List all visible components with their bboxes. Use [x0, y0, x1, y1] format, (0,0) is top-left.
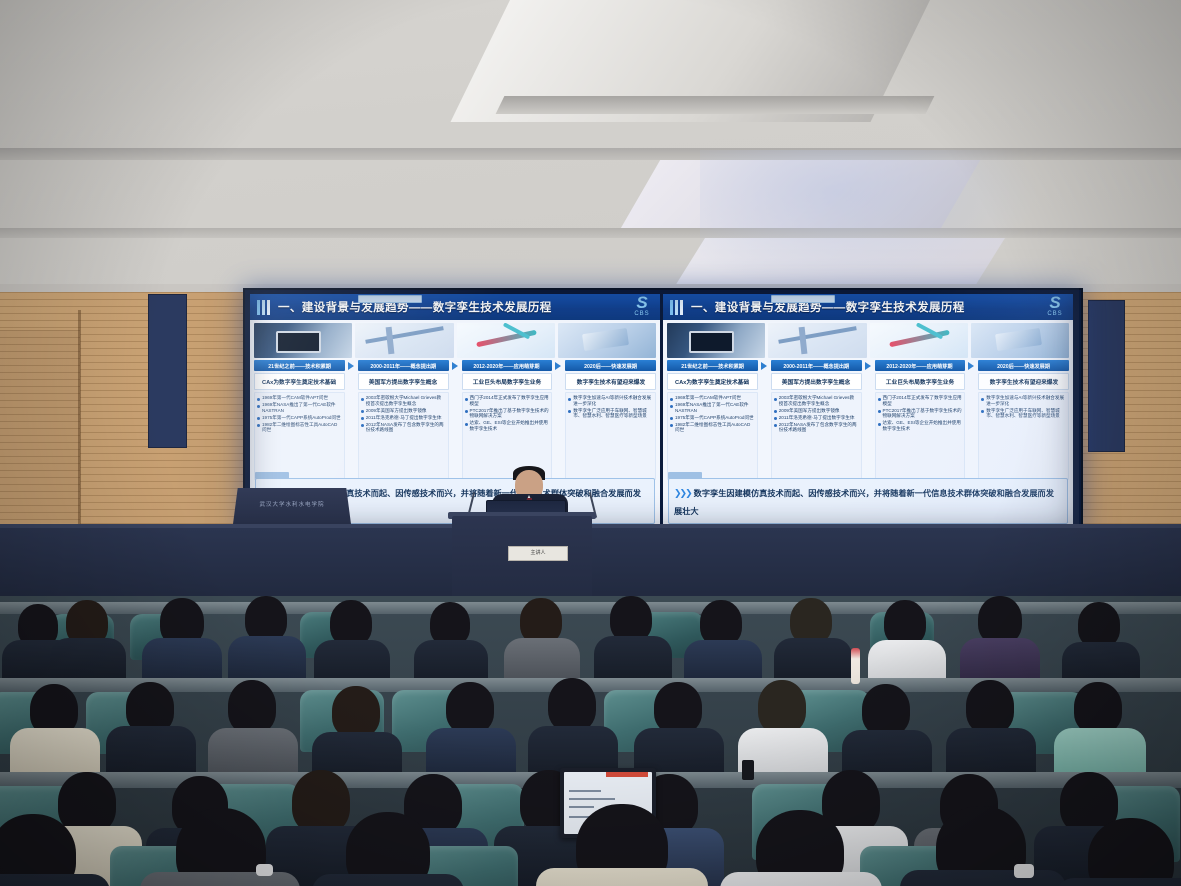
bullet-dot-icon — [568, 410, 571, 413]
ceiling-light-glow — [700, 150, 1040, 290]
chevron-right-icon: ❯❯❯ — [674, 488, 691, 498]
stage-label-text: 2020后——快速发展期 — [997, 362, 1050, 370]
stage-label-2: 2012-2020年——应用萌芽期 — [462, 360, 553, 371]
timeline-image-1 — [768, 323, 866, 358]
bullets-2: 西门子2014年正式发布了数字孪生应用模型 PTC2017年推出了基于数字孪生技… — [875, 392, 966, 480]
audience-torso — [720, 872, 882, 886]
timeline-headline-row: CAx为数字孪生奠定技术基础 美国军方提出数字孪生概念 工业巨头布局数字孪生业务… — [254, 373, 656, 390]
audience-torso — [312, 874, 464, 886]
timeline-image-row — [667, 323, 1069, 358]
bullet-text: 2009年美国军方提出数字镜像 — [779, 408, 840, 414]
bullet-text: 2009年美国军方提出数字镜像 — [366, 408, 427, 414]
bullets-3: 数字孪生加速与AI等新兴技术融合发展进一步深化 数字孪生广泛应用于车联网、智慧城… — [978, 392, 1069, 480]
bullets-3: 数字孪生加速与AI等新兴技术融合发展进一步深化 数字孪生广泛应用于车联网、智慧城… — [565, 392, 656, 480]
bullet-text: 2011年洛克希德·马丁提出数字孪生体 — [779, 415, 855, 421]
bullet-dot-icon — [465, 423, 468, 426]
bullet-text: 数字孪生加速与AI等新兴技术融合发展进一步深化 — [573, 395, 653, 406]
timeline-image-2 — [870, 323, 968, 358]
audience-head — [654, 682, 702, 734]
bullet-dot-icon — [878, 423, 881, 426]
audience-torso — [10, 728, 100, 776]
audience-torso — [504, 638, 580, 680]
stage-label-0: 21世纪之前——技术积累期 — [254, 360, 345, 371]
bullet-dot-icon — [981, 398, 984, 401]
audience-torso — [594, 636, 672, 678]
bullet-text: 2011年洛克希德·马丁提出数字孪生体 — [366, 415, 442, 421]
arrow-icon — [555, 361, 562, 370]
audience-torso — [684, 640, 762, 680]
bullet-dot-icon — [361, 417, 364, 420]
timeline-bullets-row: 1969年第一代CAM软件APT问世 1969年NASA推出了第一代CAE软件N… — [254, 392, 656, 480]
audience-head — [228, 680, 276, 734]
headline-text: 工业巨头布局数字孪生业务 — [886, 377, 954, 386]
bullet-dot-icon — [670, 398, 673, 401]
headline-text: CAx为数字孪生奠定技术基础 — [262, 377, 336, 386]
timeline-image-1 — [355, 323, 453, 358]
face-mask — [256, 864, 273, 876]
title-accent-bars-icon — [257, 300, 270, 315]
stage-label-3: 2020后——快速发展期 — [978, 360, 1069, 371]
lectern-sign-text: 武汉大学水利水电学院 — [233, 500, 351, 508]
stage-label-2: 2012-2020年——应用萌芽期 — [875, 360, 966, 371]
bullet-text: 2003年密歇根大学Michael Grieves教授首次提出数字孪生概念 — [366, 395, 446, 406]
audience-torso — [314, 640, 390, 680]
water-bottle — [851, 648, 860, 684]
bullet-text: 1975年第一代CAPP系统AutoProd问世 — [675, 415, 754, 421]
slide-mini-tab — [771, 295, 835, 303]
timeline-stage-row: 21世纪之前——技术积累期 2000-2011年——概念提出期 2012-202… — [254, 360, 656, 371]
banner-tag — [668, 472, 702, 479]
bullet-dot-icon — [257, 424, 260, 427]
audience-head — [1074, 682, 1122, 734]
audience-torso — [1056, 878, 1181, 886]
arrow-icon — [865, 361, 872, 370]
audience-head — [966, 680, 1014, 734]
slide-body: 21世纪之前——技术积累期 2000-2011年——概念提出期 2012-202… — [250, 320, 660, 480]
headline-1: 美国军方提出数字孪生概念 — [771, 373, 862, 390]
audience-torso — [960, 638, 1040, 680]
bullet-dot-icon — [257, 417, 260, 420]
stage-label-1: 2000-2011年——概念提出期 — [771, 360, 862, 371]
bullets-1: 2003年密歇根大学Michael Grieves教授首次提出数字孪生概念 20… — [771, 392, 862, 480]
bullet-text: 1969年NASA推出了第一代CAE软件NASTRAN — [262, 402, 342, 413]
audience-head — [862, 684, 910, 736]
left-accent-panel — [148, 294, 187, 448]
arrow-icon — [968, 361, 975, 370]
bullet-text: 1982年二维绘图标志性工具AutoCAD问世 — [262, 422, 342, 433]
bullet-dot-icon — [465, 398, 468, 401]
audience-torso — [900, 870, 1066, 886]
bullet-dot-icon — [361, 398, 364, 401]
slide-body: 21世纪之前——技术积累期 2000-2011年——概念提出期 2012-202… — [663, 320, 1073, 480]
banner-tag — [255, 472, 289, 479]
bullet-text: 1969年第一代CAM软件APT问世 — [675, 395, 741, 401]
bullet-dot-icon — [361, 424, 364, 427]
bullet-text: 2012年NASA发布了包含数字孪生的两份技术路线图 — [779, 422, 859, 433]
bullet-text: 西门子2014年正式发布了数字孪生应用模型 — [470, 395, 550, 406]
logo-mark: S — [630, 295, 654, 311]
audience-torso — [50, 638, 126, 678]
bullet-dot-icon — [774, 410, 777, 413]
audience-torso — [868, 640, 946, 680]
headline-2: 工业巨头布局数字孪生业务 — [875, 373, 966, 390]
led-projection-screen: 一、建设背景与发展趋势——数字孪生技术发展历程 S CBS 21世纪之前——技术… — [243, 288, 1083, 534]
stage-label-3: 2020后——快速发展期 — [565, 360, 656, 371]
nameplate: 主讲人 — [508, 546, 568, 561]
audience-head — [446, 682, 494, 734]
bullet-dot-icon — [878, 410, 881, 413]
slide-footer-banner: ❯❯❯数字孪生因建模仿真技术而起、因传感技术而兴，并将随着新一代信息技术群体突破… — [668, 478, 1068, 524]
timeline-image-0 — [667, 323, 765, 358]
bullet-dot-icon — [774, 417, 777, 420]
stage-label-text: 21世纪之前——技术积累期 — [681, 362, 744, 370]
bullet-dot-icon — [981, 410, 984, 413]
audience-torso — [946, 728, 1036, 776]
stage-label-text: 2000-2011年——概念提出期 — [783, 362, 849, 370]
bullet-text: PTC2017年推出了基于数字孪生技术的物联网解决方案 — [883, 408, 963, 419]
phone — [742, 760, 754, 780]
bullet-dot-icon — [568, 398, 571, 401]
arrow-icon — [348, 361, 355, 370]
headline-0: CAx为数字孪生奠定技术基础 — [254, 373, 345, 390]
audience-torso — [774, 638, 852, 680]
bullet-text: 2003年密歇根大学Michael Grieves教授首次提出数字孪生概念 — [779, 395, 859, 406]
headline-3: 数字孪生技术有望迎来爆发 — [978, 373, 1069, 390]
stage-label-text: 2020后——快速发展期 — [584, 362, 637, 370]
stage-label-0: 21世纪之前——技术积累期 — [667, 360, 758, 371]
audience-head — [758, 680, 806, 734]
bullets-1: 2003年密歇根大学Michael Grieves教授首次提出数字孪生概念 20… — [358, 392, 449, 480]
headline-text: CAx为数字孪生奠定技术基础 — [675, 377, 749, 386]
audience-torso — [414, 640, 488, 680]
logo-caption: CBS — [1043, 311, 1067, 317]
bullet-dot-icon — [670, 405, 673, 408]
headline-2: 工业巨头布局数字孪生业务 — [462, 373, 553, 390]
audience-torso — [140, 872, 300, 886]
stage-label-text: 2012-2020年——应用萌芽期 — [474, 362, 540, 370]
bullet-dot-icon — [361, 410, 364, 413]
audience-torso — [426, 728, 516, 776]
audience-torso — [0, 874, 110, 886]
bullet-text: 数字孪生广泛应用于车联网、智慧城市、智慧水利、智慧医疗等新型场景 — [986, 408, 1066, 419]
audience-torso — [142, 638, 222, 680]
stage-label-text: 2012-2020年——应用萌芽期 — [887, 362, 953, 370]
audience-head — [1088, 818, 1174, 886]
title-accent-bars-icon — [670, 300, 683, 315]
timeline-image-0 — [254, 323, 352, 358]
audience-head — [332, 686, 380, 738]
bullet-dot-icon — [670, 424, 673, 427]
lecture-hall-photo: 一、建设背景与发展趋势——数字孪生技术发展历程 S CBS 21世纪之前——技术… — [0, 0, 1181, 886]
nameplate-text: 主讲人 — [509, 547, 567, 560]
audience-torso — [208, 728, 298, 776]
stage-label-text: 2000-2011年——概念提出期 — [370, 362, 436, 370]
bullets-0: 1969年第一代CAM软件APT问世 1969年NASA推出了第一代CAE软件N… — [667, 392, 758, 480]
stage-label-1: 2000-2011年——概念提出期 — [358, 360, 449, 371]
logo-caption: CBS — [630, 311, 654, 317]
audience-torso — [1054, 728, 1146, 776]
bullet-dot-icon — [257, 405, 260, 408]
bullet-dot-icon — [774, 398, 777, 401]
bullet-text: 数字孪生广泛应用于车联网、智慧城市、智慧水利、智慧医疗等新型场景 — [573, 408, 653, 419]
laptop-screen-line — [569, 798, 615, 800]
bullet-dot-icon — [257, 398, 260, 401]
audience-torso — [536, 868, 708, 886]
laptop-screen-line — [569, 790, 601, 792]
ceiling-panel-shadow — [496, 96, 935, 114]
slide-title-bar: 一、建设背景与发展趋势——数字孪生技术发展历程 S CBS — [250, 294, 660, 320]
arrow-icon — [761, 361, 768, 370]
audience-torso — [228, 636, 306, 678]
bullet-text: 2012年NASA发布了包含数字孪生的两份技术路线图 — [366, 422, 446, 433]
bullet-text: 达索、GE、ESI等企业开始推出并使用数字孪生技术 — [883, 420, 963, 431]
bullet-dot-icon — [465, 410, 468, 413]
headline-text: 美国军方提出数字孪生概念 — [369, 377, 437, 386]
timeline-stage-row: 21世纪之前——技术积累期 2000-2011年——概念提出期 2012-202… — [667, 360, 1069, 371]
podium — [452, 516, 592, 608]
headline-text: 美国军方提出数字孪生概念 — [782, 377, 850, 386]
bullets-0: 1969年第一代CAM软件APT问世 1969年NASA推出了第一代CAE软件N… — [254, 392, 345, 480]
audience-torso — [106, 726, 196, 776]
bullet-text: 达索、GE、ESI等企业开始推出并使用数字孪生技术 — [470, 420, 550, 431]
side-lectern: 武汉大学水利水电学院 — [233, 488, 351, 524]
timeline-image-2 — [457, 323, 555, 358]
bullet-text: 1982年二维绘图标志性工具AutoCAD问世 — [675, 422, 755, 433]
timeline-image-3 — [558, 323, 656, 358]
bullet-text: 数字孪生加速与AI等新兴技术融合发展进一步深化 — [986, 395, 1066, 406]
bullet-text: PTC2017年推出了基于数字孪生技术的物联网解决方案 — [470, 408, 550, 419]
slide-title-bar: 一、建设背景与发展趋势——数字孪生技术发展历程 S CBS — [663, 294, 1073, 320]
headline-text: 数字孪生技术有望迎来爆发 — [989, 377, 1057, 386]
cbs-logo-icon: S CBS — [630, 295, 654, 319]
audience-torso — [1062, 642, 1140, 682]
headline-text: 数字孪生技术有望迎来爆发 — [576, 377, 644, 386]
audience-head — [978, 596, 1022, 644]
bullet-dot-icon — [670, 417, 673, 420]
timeline-headline-row: CAx为数字孪生奠定技术基础 美国军方提出数字孪生概念 工业巨头布局数字孪生业务… — [667, 373, 1069, 390]
face-mask — [1014, 864, 1034, 878]
laptop-screen-line — [569, 806, 594, 808]
cbs-logo-icon: S CBS — [1043, 295, 1067, 319]
stage-label-text: 21世纪之前——技术积累期 — [268, 362, 331, 370]
audience-head — [58, 772, 116, 834]
headline-text: 工业巨头布局数字孪生业务 — [473, 377, 541, 386]
right-accent-panel — [1088, 300, 1125, 452]
bullet-text: 1975年第一代CAPP系统AutoProd问世 — [262, 415, 341, 421]
headline-1: 美国军方提出数字孪生概念 — [358, 373, 449, 390]
timeline-bullets-row: 1969年第一代CAM软件APT问世 1969年NASA推出了第一代CAE软件N… — [667, 392, 1069, 480]
audience-area — [0, 596, 1181, 886]
laptop-screen-toolbar — [606, 772, 648, 777]
timeline-image-row — [254, 323, 656, 358]
headline-3: 数字孪生技术有望迎来爆发 — [565, 373, 656, 390]
slide-mini-tab — [358, 295, 422, 303]
bullet-text: 西门子2014年正式发布了数字孪生应用模型 — [883, 395, 963, 406]
audience-head — [548, 678, 596, 732]
bullet-dot-icon — [774, 424, 777, 427]
audience-head — [292, 770, 350, 834]
bullet-text: 1969年第一代CAM软件APT问世 — [262, 395, 328, 401]
bullet-text: 1969年NASA推出了第一代CAE软件NASTRAN — [675, 402, 755, 413]
banner-text: 数字孪生因建模仿真技术而起、因传感技术而兴，并将随着新一代信息技术群体突破和融合… — [674, 489, 1054, 516]
slide-panel-right: 一、建设背景与发展趋势——数字孪生技术发展历程 S CBS 21世纪之前——技术… — [663, 294, 1073, 528]
logo-mark: S — [1043, 295, 1067, 311]
headline-0: CAx为数字孪生奠定技术基础 — [667, 373, 758, 390]
arrow-icon — [452, 361, 459, 370]
bullet-dot-icon — [878, 398, 881, 401]
timeline-image-3 — [971, 323, 1069, 358]
